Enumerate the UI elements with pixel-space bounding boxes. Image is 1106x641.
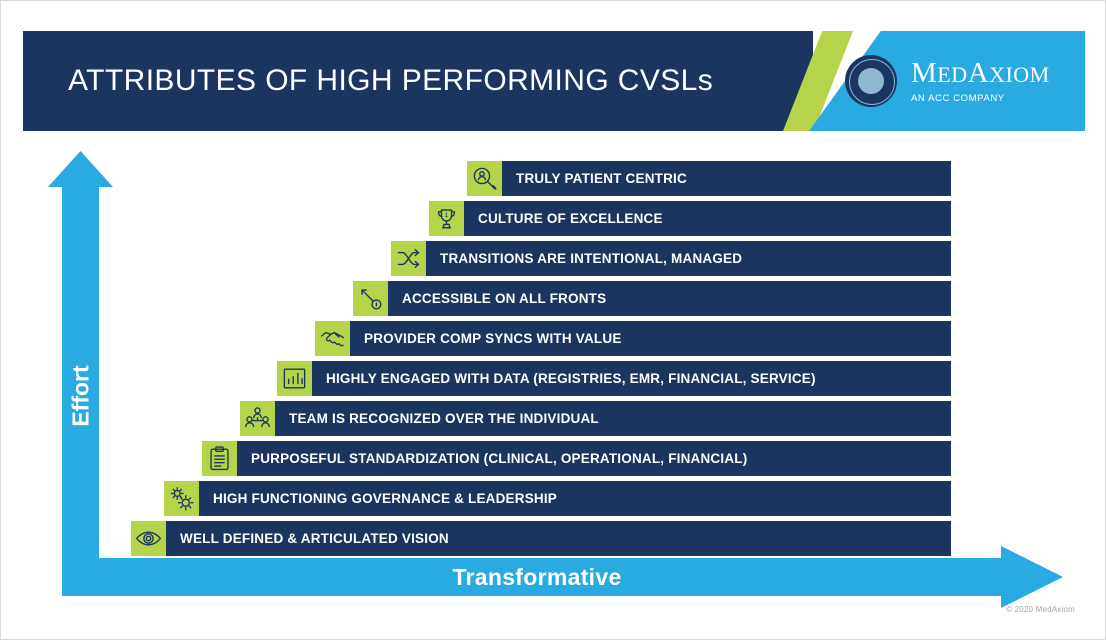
staircase-chart: Effort Transformative TRULY PATIENT CENT… — [1, 1, 1106, 641]
team-people-icon — [240, 401, 275, 436]
effort-arrow-head-icon — [48, 151, 113, 187]
gears-icon — [164, 481, 199, 516]
step-bar: PROVIDER COMP SYNCS WITH VALUE — [350, 321, 951, 356]
bar-chart-icon — [277, 361, 312, 396]
staircase-step-7[interactable]: ACCESSIBLE ON ALL FRONTS — [353, 281, 951, 316]
staircase-step-5[interactable]: HIGHLY ENGAGED WITH DATA (REGISTRIES, EM… — [277, 361, 951, 396]
shuffle-arrows-icon — [391, 241, 426, 276]
staircase-step-4[interactable]: TEAM IS RECOGNIZED OVER THE INDIVIDUAL — [240, 401, 951, 436]
step-bar: HIGH FUNCTIONING GOVERNANCE & LEADERSHIP — [199, 481, 951, 516]
handshake-icon — [315, 321, 350, 356]
staircase-step-1[interactable]: WELL DEFINED & ARTICULATED VISION — [131, 521, 951, 556]
step-bar: WELL DEFINED & ARTICULATED VISION — [166, 521, 951, 556]
step-label: TRANSITIONS ARE INTENTIONAL, MANAGED — [440, 251, 742, 266]
copyright-notice: © 2020 MedAxiom — [1006, 605, 1075, 614]
step-label: TRULY PATIENT CENTRIC — [516, 171, 687, 186]
step-label: CULTURE OF EXCELLENCE — [478, 211, 663, 226]
step-label: PROVIDER COMP SYNCS WITH VALUE — [364, 331, 622, 346]
step-label: HIGHLY ENGAGED WITH DATA (REGISTRIES, EM… — [326, 371, 816, 386]
svg-text:1: 1 — [445, 212, 449, 219]
step-label: ACCESSIBLE ON ALL FRONTS — [402, 291, 606, 306]
step-label: TEAM IS RECOGNIZED OVER THE INDIVIDUAL — [289, 411, 599, 426]
staircase-step-9[interactable]: 1CULTURE OF EXCELLENCE — [429, 201, 951, 236]
step-label: PURPOSEFUL STANDARDIZATION (CLINICAL, OP… — [251, 451, 747, 466]
step-label: WELL DEFINED & ARTICULATED VISION — [180, 531, 449, 546]
step-bar: HIGHLY ENGAGED WITH DATA (REGISTRIES, EM… — [312, 361, 951, 396]
trophy-icon: 1 — [429, 201, 464, 236]
step-bar: TEAM IS RECOGNIZED OVER THE INDIVIDUAL — [275, 401, 951, 436]
step-label: HIGH FUNCTIONING GOVERNANCE & LEADERSHIP — [213, 491, 557, 506]
step-bar: ACCESSIBLE ON ALL FRONTS — [388, 281, 951, 316]
staircase-step-2[interactable]: HIGH FUNCTIONING GOVERNANCE & LEADERSHIP — [164, 481, 951, 516]
staircase-step-10[interactable]: TRULY PATIENT CENTRIC — [467, 161, 951, 196]
step-bar: TRANSITIONS ARE INTENTIONAL, MANAGED — [426, 241, 951, 276]
eye-icon — [131, 521, 166, 556]
step-bar: TRULY PATIENT CENTRIC — [502, 161, 951, 196]
staircase-step-6[interactable]: PROVIDER COMP SYNCS WITH VALUE — [315, 321, 951, 356]
step-bar: CULTURE OF EXCELLENCE — [464, 201, 951, 236]
step-bar: PURPOSEFUL STANDARDIZATION (CLINICAL, OP… — [237, 441, 951, 476]
y-axis-label: Effort — [26, 378, 136, 415]
staircase-step-8[interactable]: TRANSITIONS ARE INTENTIONAL, MANAGED — [391, 241, 951, 276]
staircase-step-3[interactable]: PURPOSEFUL STANDARDIZATION (CLINICAL, OP… — [202, 441, 951, 476]
key-icon — [353, 281, 388, 316]
clipboard-icon — [202, 441, 237, 476]
person-magnifier-icon — [467, 161, 502, 196]
slide-canvas: ATTRIBUTES OF HIGH PERFORMING CVSLs MEDA… — [0, 0, 1106, 640]
x-axis-label: Transformative — [62, 558, 1012, 596]
